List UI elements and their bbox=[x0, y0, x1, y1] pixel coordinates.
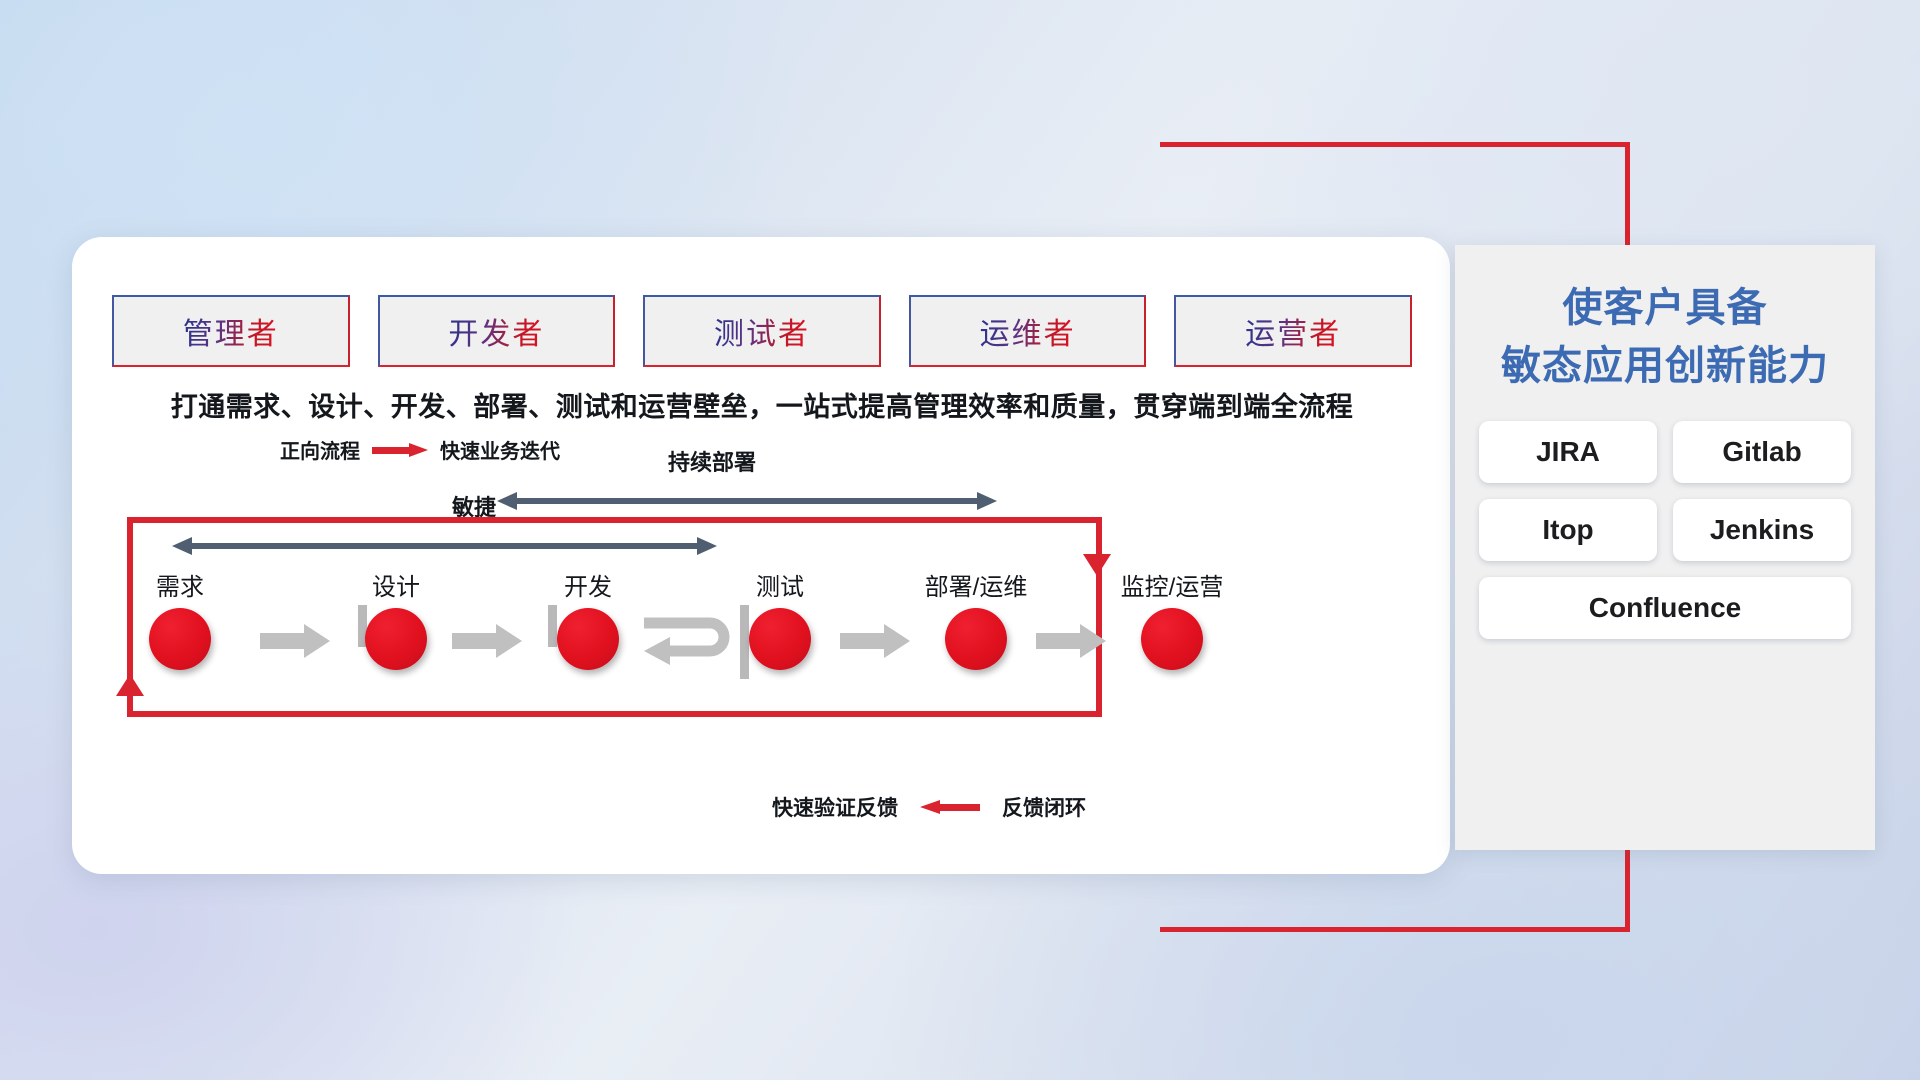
legend-forward-flow: 正向流程 快速业务迭代 bbox=[280, 435, 560, 464]
legend-feedback-target-label: 快速验证反馈 bbox=[772, 792, 898, 822]
pipeline-node-deploy-ops[interactable]: 部署/运维 bbox=[916, 567, 1036, 670]
pipeline-node-requirement[interactable]: 需求 bbox=[120, 567, 240, 670]
tool-chip-label: Confluence bbox=[1589, 592, 1741, 624]
continuous-deployment-label: 持续部署 bbox=[668, 445, 756, 477]
node-label: 测试 bbox=[720, 567, 840, 602]
tool-chip-grid: JIRA Gitlab Itop Jenkins Confluence bbox=[1479, 421, 1851, 639]
legend-forward-target-label: 快速业务迭代 bbox=[440, 435, 560, 464]
tool-chip-jira[interactable]: JIRA bbox=[1479, 421, 1657, 483]
legend-feedback-source-label: 反馈闭环 bbox=[1002, 792, 1086, 822]
tool-chip-confluence[interactable]: Confluence bbox=[1479, 577, 1851, 639]
pipeline-node-develop[interactable]: 开发 bbox=[528, 567, 648, 670]
role-box-manager[interactable]: 管理者 bbox=[112, 295, 350, 367]
arrow-left-red-icon bbox=[920, 800, 980, 814]
role-box-row: 管理者 开发者 测试者 运维者 运营者 bbox=[112, 295, 1412, 367]
sidebar-title-line-1: 使客户具备 bbox=[1455, 279, 1875, 337]
tool-chip-jenkins[interactable]: Jenkins bbox=[1673, 499, 1851, 561]
role-box-ops[interactable]: 运维者 bbox=[909, 295, 1147, 367]
tool-chip-gitlab[interactable]: Gitlab bbox=[1673, 421, 1851, 483]
tool-chip-itop[interactable]: Itop bbox=[1479, 499, 1657, 561]
node-dot-icon bbox=[749, 608, 811, 670]
sidebar-title-line-2: 敏态应用创新能力 bbox=[1455, 337, 1875, 395]
role-label: 运营者 bbox=[1245, 309, 1341, 353]
sidebar-title: 使客户具备 敏态应用创新能力 bbox=[1455, 279, 1875, 395]
main-content-card: 管理者 开发者 测试者 运维者 运营者 打通需求、设计、开发、部署、测试和运营壁… bbox=[72, 237, 1450, 874]
node-label: 需求 bbox=[120, 567, 240, 602]
role-box-developer[interactable]: 开发者 bbox=[378, 295, 616, 367]
node-dot-icon bbox=[149, 608, 211, 670]
pipeline-node-monitor-operations[interactable]: 监控/运营 bbox=[1112, 567, 1232, 670]
node-label: 部署/运维 bbox=[916, 567, 1036, 602]
devops-pipeline: 需求 设计 开发 bbox=[112, 567, 1412, 697]
tool-chip-label: Gitlab bbox=[1722, 436, 1801, 468]
role-label: 运维者 bbox=[980, 309, 1076, 353]
role-label: 测试者 bbox=[714, 309, 810, 353]
flow-arrow-2-icon bbox=[452, 623, 522, 659]
slide-canvas: 管理者 开发者 测试者 运维者 运营者 打通需求、设计、开发、部署、测试和运营壁… bbox=[0, 0, 1920, 1080]
arrow-right-red-icon bbox=[372, 443, 428, 457]
role-label: 管理者 bbox=[183, 309, 279, 353]
description-text: 打通需求、设计、开发、部署、测试和运营壁垒，一站式提高管理效率和质量，贯穿端到端… bbox=[112, 385, 1412, 424]
role-box-operations[interactable]: 运营者 bbox=[1174, 295, 1412, 367]
legend-forward-source-label: 正向流程 bbox=[280, 435, 360, 464]
node-dot-icon bbox=[1141, 608, 1203, 670]
role-box-tester[interactable]: 测试者 bbox=[643, 295, 881, 367]
flow-arrow-4-icon bbox=[840, 623, 910, 659]
flow-arrow-1-icon bbox=[260, 623, 330, 659]
node-dot-icon bbox=[945, 608, 1007, 670]
pipeline-node-test[interactable]: 测试 bbox=[720, 567, 840, 670]
node-dot-icon bbox=[557, 608, 619, 670]
role-label: 开发者 bbox=[448, 309, 544, 353]
tools-sidebar-panel: 使客户具备 敏态应用创新能力 JIRA Gitlab Itop Jenkins … bbox=[1455, 245, 1875, 850]
pipeline-node-design[interactable]: 设计 bbox=[336, 567, 456, 670]
node-dot-icon bbox=[365, 608, 427, 670]
continuous-deployment-arrow-icon bbox=[497, 492, 997, 510]
node-label: 监控/运营 bbox=[1112, 567, 1232, 602]
node-label: 开发 bbox=[528, 567, 648, 602]
node-label: 设计 bbox=[336, 567, 456, 602]
tool-chip-label: Jenkins bbox=[1710, 514, 1814, 546]
tool-chip-label: JIRA bbox=[1536, 436, 1600, 468]
flow-arrow-5-icon bbox=[1036, 623, 1106, 659]
legend-feedback-loop: 快速验证反馈 反馈闭环 bbox=[772, 792, 1086, 822]
tool-chip-label: Itop bbox=[1542, 514, 1593, 546]
